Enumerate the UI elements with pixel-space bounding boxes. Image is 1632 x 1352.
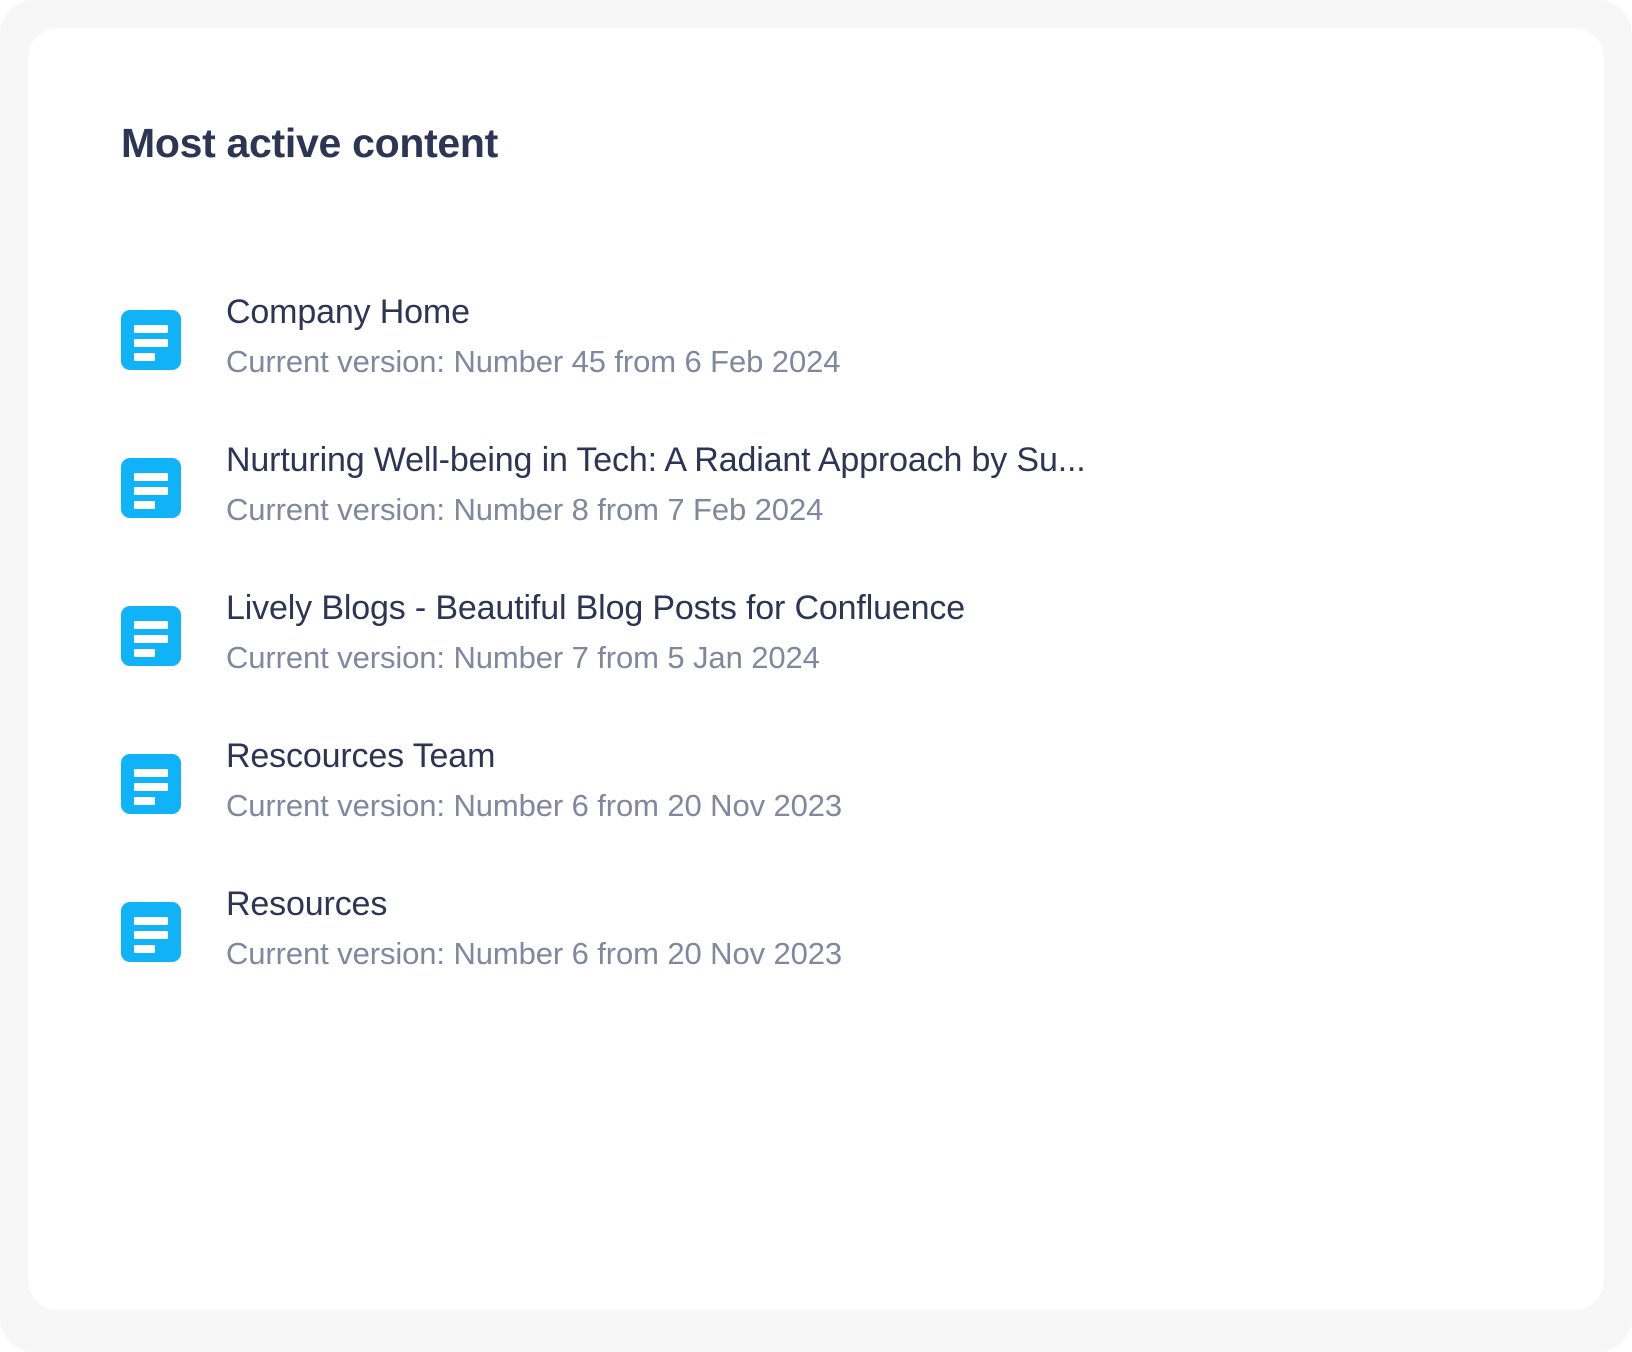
list-item[interactable]: Rescources Team Current version: Number … <box>121 720 1531 868</box>
list-item-text: Company Home Current version: Number 45 … <box>226 276 1531 383</box>
list-item[interactable]: Resources Current version: Number 6 from… <box>121 868 1531 1016</box>
list-item-subtitle: Current version: Number 8 from 7 Feb 202… <box>226 489 1531 531</box>
document-icon <box>121 754 181 814</box>
most-active-content-card: Most active content Company Home Current… <box>28 28 1604 1310</box>
list-item-title[interactable]: Company Home <box>226 290 1422 335</box>
list-item-title[interactable]: Nurturing Well-being in Tech: A Radiant … <box>226 438 1422 483</box>
list-item-subtitle: Current version: Number 45 from 6 Feb 20… <box>226 341 1531 383</box>
list-item-text: Lively Blogs - Beautiful Blog Posts for … <box>226 572 1531 679</box>
list-item[interactable]: Lively Blogs - Beautiful Blog Posts for … <box>121 572 1531 720</box>
most-active-content-list: Company Home Current version: Number 45 … <box>121 276 1531 1016</box>
document-icon <box>121 902 181 962</box>
list-item-title[interactable]: Resources <box>226 882 1422 927</box>
list-item-title[interactable]: Rescources Team <box>226 734 1422 779</box>
list-item[interactable]: Nurturing Well-being in Tech: A Radiant … <box>121 424 1531 572</box>
list-item-subtitle: Current version: Number 7 from 5 Jan 202… <box>226 637 1531 679</box>
list-item-text: Resources Current version: Number 6 from… <box>226 868 1531 975</box>
list-item-subtitle: Current version: Number 6 from 20 Nov 20… <box>226 933 1531 975</box>
list-item-title[interactable]: Lively Blogs - Beautiful Blog Posts for … <box>226 586 1422 631</box>
document-icon <box>121 310 181 370</box>
list-item[interactable]: Company Home Current version: Number 45 … <box>121 276 1531 424</box>
document-icon <box>121 606 181 666</box>
list-item-text: Nurturing Well-being in Tech: A Radiant … <box>226 424 1531 531</box>
list-item-subtitle: Current version: Number 6 from 20 Nov 20… <box>226 785 1531 827</box>
list-item-text: Rescources Team Current version: Number … <box>226 720 1531 827</box>
outer-panel: Most active content Company Home Current… <box>0 0 1632 1352</box>
document-icon <box>121 458 181 518</box>
page-title: Most active content <box>121 119 498 168</box>
